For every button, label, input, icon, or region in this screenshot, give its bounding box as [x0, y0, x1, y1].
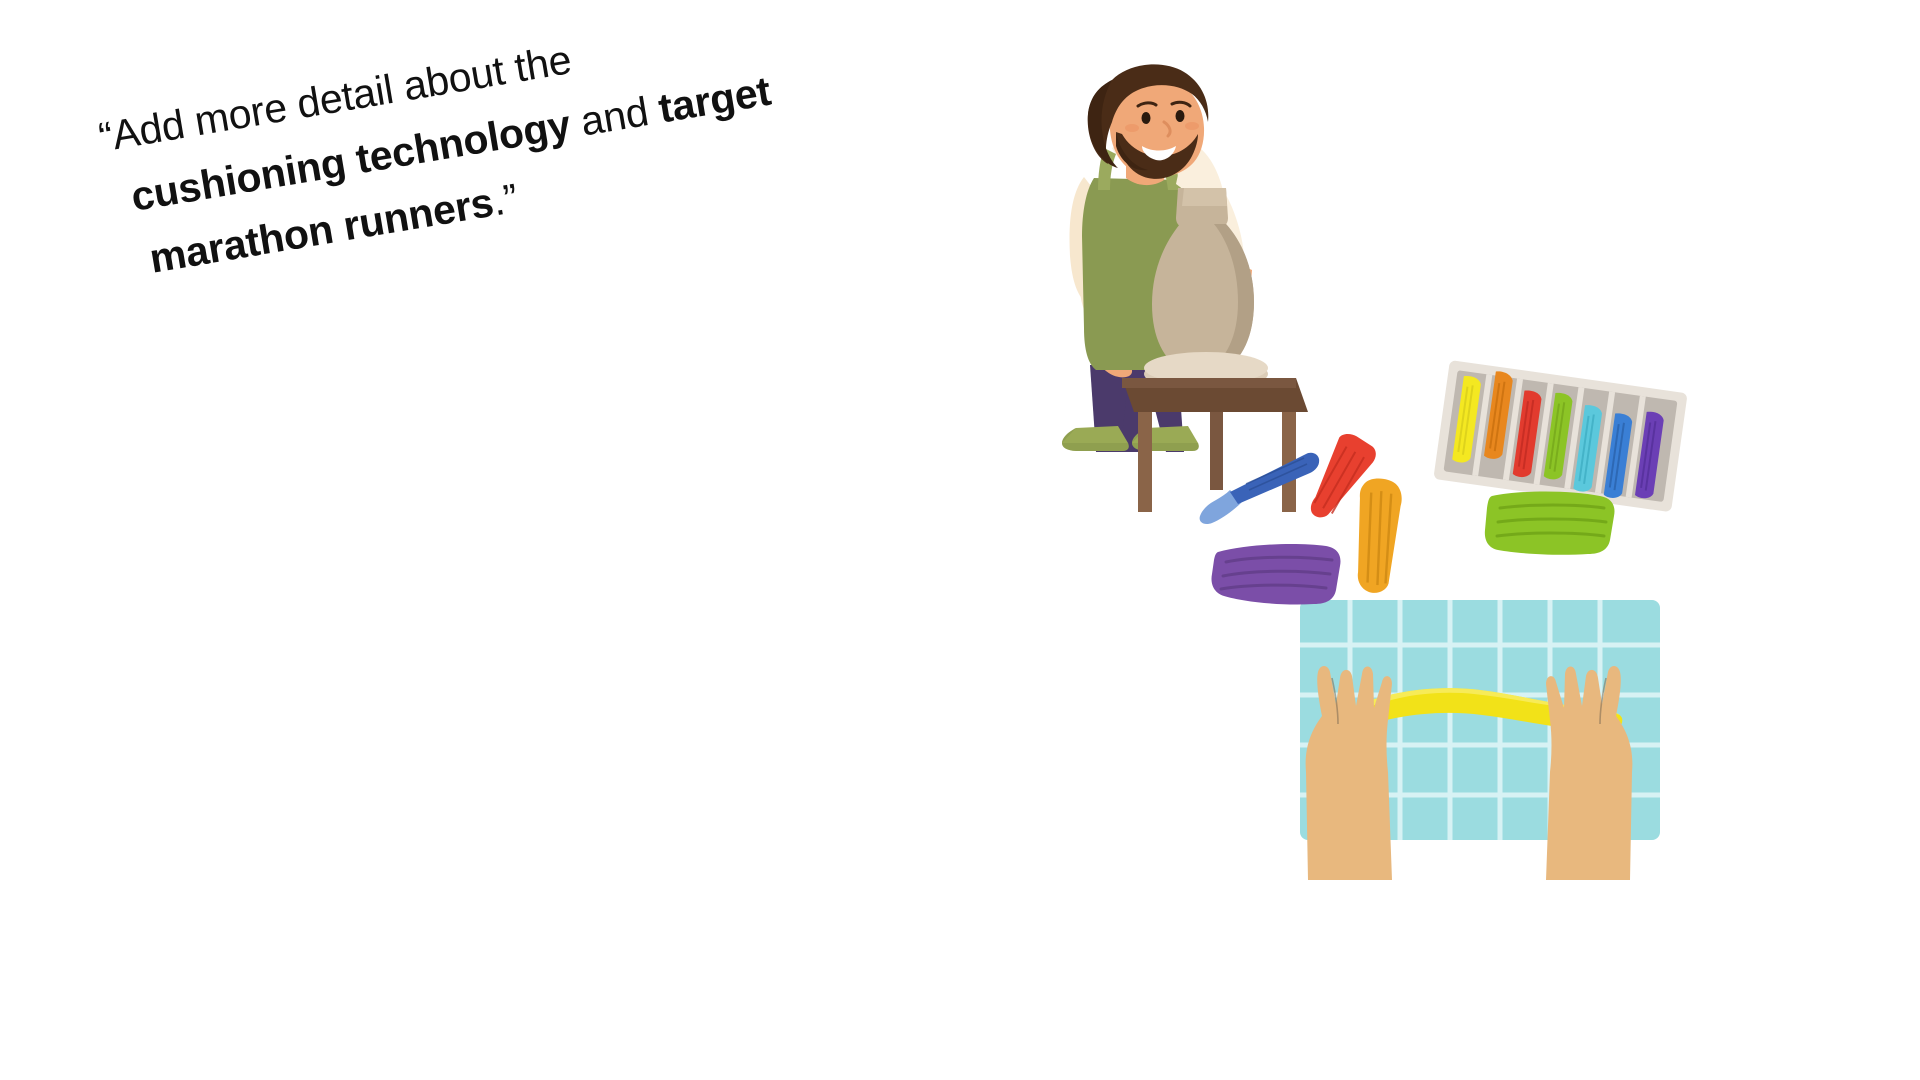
potter-figure-group	[1062, 64, 1308, 512]
quote-text-block: “Add more detail about the cushioning te…	[96, 0, 873, 285]
pottery-illustration	[1060, 60, 1760, 880]
purple-clay-slab	[1212, 544, 1341, 605]
pottery-table	[1122, 378, 1308, 512]
quote-conjunction: and	[566, 86, 663, 146]
green-clay-slab	[1485, 492, 1615, 555]
orange-clay-stick	[1355, 478, 1403, 595]
clay-storage-tray	[1433, 360, 1687, 512]
quote-emphasis-target: target	[655, 68, 774, 132]
slide-canvas: “Add more detail about the cushioning te…	[0, 0, 1920, 1080]
